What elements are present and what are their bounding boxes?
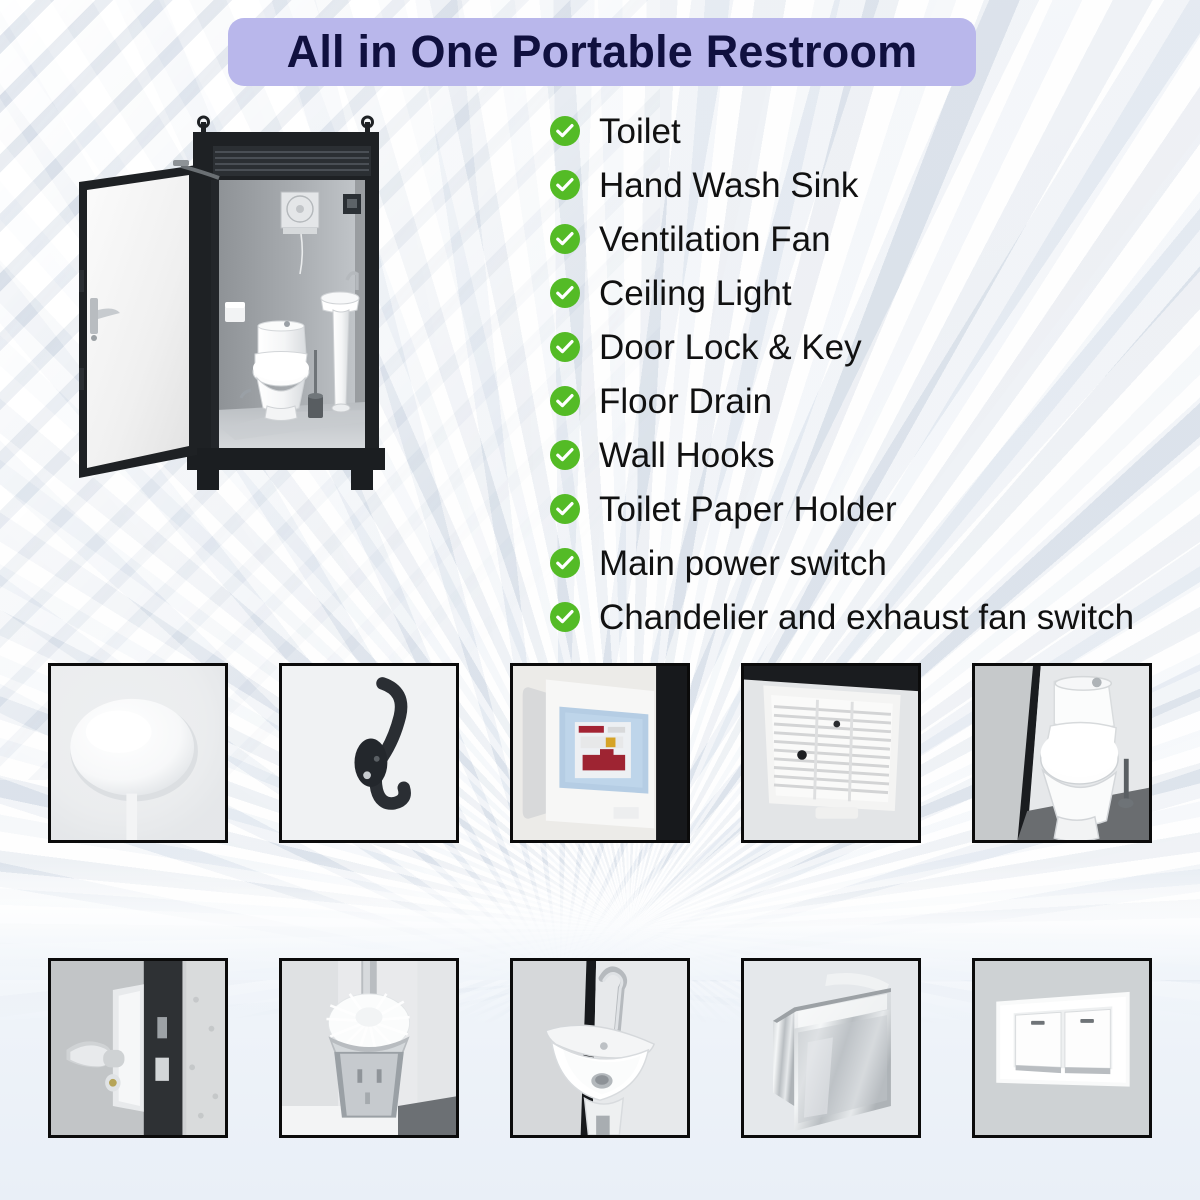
green-check-icon <box>550 116 580 146</box>
feature-label: Main power switch <box>599 546 887 581</box>
door-lock-thumbnail <box>48 958 228 1138</box>
toilet-paper-holder-thumbnail <box>741 958 921 1138</box>
feature-item-ceiling-light: Ceiling Light <box>550 266 1180 320</box>
feature-item-toilet: Toilet <box>550 104 1180 158</box>
green-check-icon <box>550 548 580 578</box>
feature-label: Hand Wash Sink <box>599 168 858 203</box>
green-check-icon <box>550 332 580 362</box>
portable-restroom-unit-open-door <box>55 110 455 610</box>
feature-item-floor-drain: Floor Drain <box>550 374 1180 428</box>
feature-item-ventilation-fan: Ventilation Fan <box>550 212 1180 266</box>
green-check-icon <box>550 494 580 524</box>
feature-label: Floor Drain <box>599 384 772 419</box>
ventilation-fan-thumbnail <box>741 663 921 843</box>
infographic-page: All in One Portable Restroom <box>0 0 1200 1200</box>
green-check-icon <box>550 224 580 254</box>
page-title: All in One Portable Restroom <box>287 26 918 78</box>
green-check-icon <box>550 440 580 470</box>
feature-item-hand-wash-sink: Hand Wash Sink <box>550 158 1180 212</box>
feature-label: Toilet <box>599 114 681 149</box>
wall-hook-thumbnail <box>279 663 459 843</box>
feature-label: Ceiling Light <box>599 276 792 311</box>
feature-list: Toilet Hand Wash Sink Ventilation Fan Ce… <box>550 104 1180 644</box>
ceiling-light-thumbnail <box>48 663 228 843</box>
light-switch-thumbnail <box>972 958 1152 1138</box>
feature-label: Wall Hooks <box>599 438 775 473</box>
hand-wash-sink-thumbnail <box>510 958 690 1138</box>
feature-label: Door Lock & Key <box>599 330 862 365</box>
feature-item-chandelier-exhaust-fan-switch: Chandelier and exhaust fan switch <box>550 590 1180 644</box>
feature-item-main-power-switch: Main power switch <box>550 536 1180 590</box>
feature-label: Ventilation Fan <box>599 222 831 257</box>
toilet-thumbnail <box>972 663 1152 843</box>
title-banner: All in One Portable Restroom <box>228 18 976 86</box>
thumbnail-row-top <box>48 663 1152 843</box>
green-check-icon <box>550 386 580 416</box>
green-check-icon <box>550 278 580 308</box>
thumbnail-row-bottom <box>48 958 1152 1138</box>
feature-item-door-lock-key: Door Lock & Key <box>550 320 1180 374</box>
green-check-icon <box>550 170 580 200</box>
feature-item-wall-hooks: Wall Hooks <box>550 428 1180 482</box>
feature-item-toilet-paper-holder: Toilet Paper Holder <box>550 482 1180 536</box>
power-distribution-box-thumbnail <box>510 663 690 843</box>
toilet-brush-thumbnail <box>279 958 459 1138</box>
green-check-icon <box>550 602 580 632</box>
feature-label: Toilet Paper Holder <box>599 492 897 527</box>
feature-label: Chandelier and exhaust fan switch <box>599 600 1134 635</box>
